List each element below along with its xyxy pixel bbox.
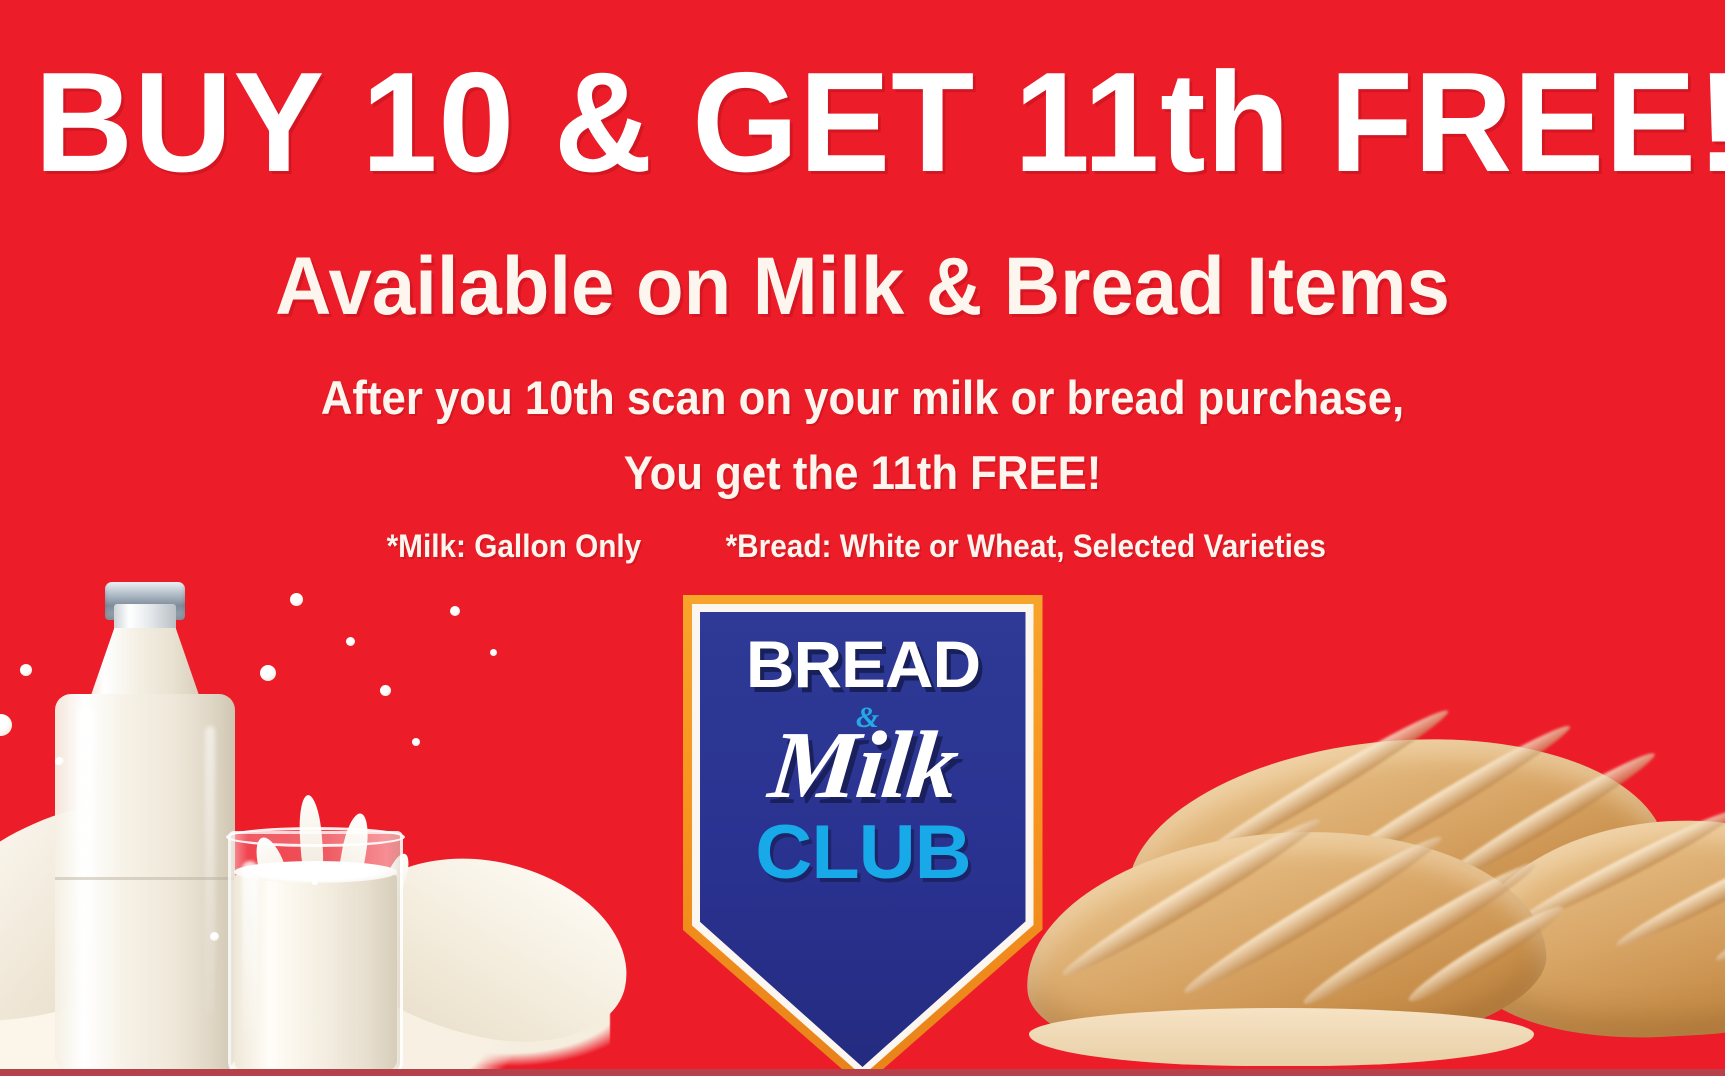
fine-print-bread: *Bread: White or Wheat, Selected Varieti… (725, 530, 1325, 562)
badge-word-club: CLUB (675, 815, 1049, 891)
milk-droplet (346, 637, 355, 646)
milk-splash-illustration (0, 476, 580, 1076)
milk-droplet (290, 593, 303, 606)
bread-loaves-illustration (995, 686, 1725, 1076)
milk-droplet (490, 649, 497, 656)
milk-glass-illustration (228, 831, 403, 1076)
milk-droplet (260, 665, 276, 681)
glass-milk-fill (234, 875, 397, 1071)
glass-rim (226, 827, 405, 847)
headline: BUY 10 & GET 11th FREE! (35, 52, 1691, 194)
milk-droplet (412, 738, 420, 746)
bottle-body (55, 694, 235, 1076)
milk-bottle-illustration (55, 576, 235, 1076)
promo-banner: BUY 10 & GET 11th FREE! Available on Mil… (0, 0, 1725, 1076)
bottle-highlight (77, 706, 95, 1036)
badge-word-milk: Milk (670, 717, 1054, 813)
milk-droplet (20, 664, 32, 676)
glass-highlight (242, 861, 258, 1036)
milk-droplet (450, 606, 460, 616)
subheadline: Available on Milk & Bread Items (43, 246, 1682, 328)
bottle-seam (55, 877, 235, 880)
milk-droplet (210, 932, 219, 941)
bottle-highlight (205, 726, 215, 1016)
badge-word-bread: BREAD (679, 631, 1046, 697)
milk-droplet (55, 757, 64, 766)
badge-content: BREAD & Milk CLUB (683, 631, 1043, 891)
body-line-1: After you 10th scan on your milk or brea… (60, 374, 1664, 421)
bottom-edge-strip (0, 1069, 1725, 1076)
milk-droplet (312, 879, 319, 886)
milk-droplet (0, 714, 12, 736)
bread-milk-club-badge: BREAD & Milk CLUB (683, 595, 1043, 1076)
bread-loaf-base (1029, 1008, 1534, 1066)
milk-droplet (380, 685, 391, 696)
